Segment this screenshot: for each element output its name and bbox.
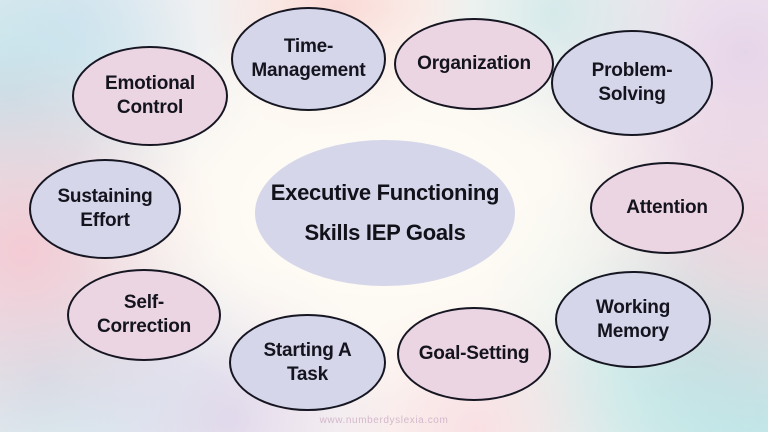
node-label: EmotionalControl xyxy=(105,72,195,119)
node-label: Problem-Solving xyxy=(592,59,673,106)
node-label: Goal-Setting xyxy=(419,342,530,366)
node-label: WorkingMemory xyxy=(596,296,670,343)
node-attention[interactable]: Attention xyxy=(590,162,744,254)
node-time-management[interactable]: Time-Management xyxy=(231,7,386,111)
node-label: Starting ATask xyxy=(263,339,351,386)
diagram-canvas: EmotionalControlTime-ManagementOrganizat… xyxy=(0,0,768,432)
node-organization[interactable]: Organization xyxy=(394,18,554,110)
node-label: Time-Management xyxy=(251,35,365,82)
node-working-memory[interactable]: WorkingMemory xyxy=(555,271,711,368)
watermark-url: www.numberdyslexia.com xyxy=(0,415,768,426)
node-label: Self-Correction xyxy=(97,291,191,338)
center-node-line-1: Executive Functioning xyxy=(271,180,499,206)
node-label: SustainingEffort xyxy=(57,185,152,232)
center-node-line-2: Skills IEP Goals xyxy=(304,220,465,246)
node-sustaining-effort[interactable]: SustainingEffort xyxy=(29,159,181,259)
node-label: Attention xyxy=(626,196,708,220)
center-node-executive-functioning[interactable]: Executive Functioning Skills IEP Goals xyxy=(255,140,515,286)
node-problem-solving[interactable]: Problem-Solving xyxy=(551,30,713,136)
node-goal-setting[interactable]: Goal-Setting xyxy=(397,307,551,401)
node-starting-a-task[interactable]: Starting ATask xyxy=(229,314,386,411)
node-self-correction[interactable]: Self-Correction xyxy=(67,269,221,361)
node-emotional-control[interactable]: EmotionalControl xyxy=(72,46,228,146)
node-label: Organization xyxy=(417,52,531,76)
